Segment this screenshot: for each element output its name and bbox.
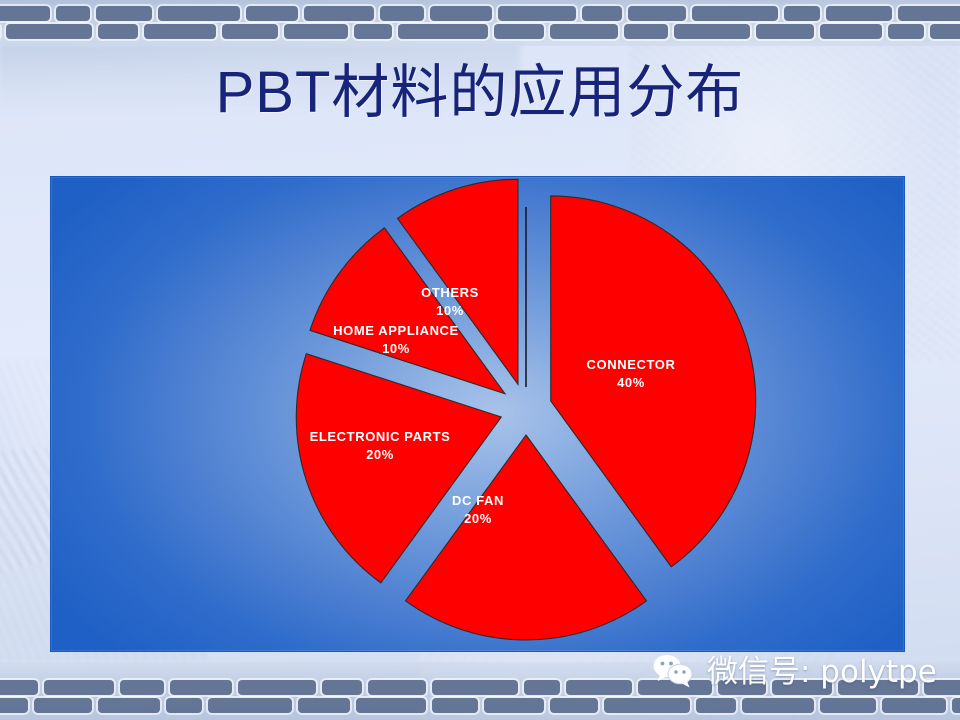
brick bbox=[430, 6, 492, 21]
brick bbox=[550, 698, 598, 713]
brick bbox=[170, 680, 232, 695]
brick bbox=[238, 680, 316, 695]
brick bbox=[820, 698, 876, 713]
brick bbox=[398, 24, 488, 39]
brick bbox=[696, 698, 736, 713]
chart-panel: CONNECTOR40%DC FAN20%ELECTRONIC PARTS20%… bbox=[50, 176, 905, 652]
pie-slice-label: CONNECTOR bbox=[587, 357, 676, 372]
brick bbox=[158, 6, 240, 21]
brick bbox=[432, 680, 518, 695]
brick-border-top-bg bbox=[0, 0, 960, 46]
brick bbox=[498, 6, 576, 21]
brick bbox=[98, 698, 160, 713]
slide-title-cjk: 材料的应用分布 bbox=[331, 58, 744, 126]
brick bbox=[624, 24, 668, 39]
brick-row-top-2 bbox=[0, 24, 960, 39]
pie-slice-value: 20% bbox=[366, 447, 394, 462]
pie-slice-label: HOME APPLIANCE bbox=[333, 323, 459, 338]
pie-slice-value: 20% bbox=[464, 511, 492, 526]
brick bbox=[298, 698, 350, 713]
slide-title: PBT材料的应用分布 bbox=[0, 62, 960, 124]
brick bbox=[222, 24, 278, 39]
brick bbox=[826, 6, 892, 21]
brick bbox=[56, 6, 90, 21]
brick bbox=[6, 24, 92, 39]
brick bbox=[756, 24, 814, 39]
presentation-slide: PBT材料的应用分布 CONNECTOR40%DC FAN20%ELECTRON… bbox=[0, 0, 960, 720]
brick bbox=[144, 24, 216, 39]
brick-row-bottom-2 bbox=[0, 698, 960, 713]
brick bbox=[304, 6, 374, 21]
brick bbox=[772, 680, 832, 695]
brick bbox=[638, 680, 712, 695]
pie-chart: CONNECTOR40%DC FAN20%ELECTRONIC PARTS20%… bbox=[51, 177, 906, 653]
brick bbox=[838, 680, 918, 695]
pie-slice-value: 10% bbox=[436, 303, 464, 318]
pie-slice-label: OTHERS bbox=[421, 285, 479, 300]
brick bbox=[952, 698, 960, 713]
brick bbox=[166, 698, 202, 713]
brick bbox=[924, 680, 960, 695]
brick-border-top bbox=[0, 0, 960, 46]
brick bbox=[44, 680, 114, 695]
brick bbox=[322, 680, 362, 695]
brick bbox=[524, 680, 560, 695]
brick-row-bottom-1 bbox=[0, 680, 960, 695]
brick bbox=[820, 24, 882, 39]
brick bbox=[882, 698, 946, 713]
brick bbox=[784, 6, 820, 21]
brick bbox=[208, 698, 292, 713]
brick bbox=[0, 6, 50, 21]
brick bbox=[284, 24, 348, 39]
brick bbox=[888, 24, 924, 39]
brick-border-bottom-bg bbox=[0, 662, 960, 720]
brick bbox=[494, 24, 544, 39]
brick bbox=[628, 6, 686, 21]
slide-title-latin: PBT bbox=[216, 60, 332, 125]
brick bbox=[356, 698, 426, 713]
brick bbox=[674, 24, 750, 39]
pie-slice-label: DC FAN bbox=[452, 493, 504, 508]
brick-row-top-1 bbox=[0, 6, 960, 21]
brick bbox=[98, 24, 138, 39]
wechat-watermark: 微信号: polytpe bbox=[652, 652, 937, 692]
brick bbox=[566, 680, 632, 695]
brick bbox=[604, 698, 690, 713]
brick bbox=[354, 24, 392, 39]
brick bbox=[432, 698, 478, 713]
brick bbox=[484, 698, 544, 713]
wechat-logo-icon bbox=[652, 652, 698, 692]
brick bbox=[368, 680, 426, 695]
brick bbox=[742, 698, 814, 713]
brick bbox=[0, 698, 28, 713]
brick bbox=[34, 698, 92, 713]
brick bbox=[550, 24, 618, 39]
brick bbox=[930, 24, 960, 39]
brick bbox=[718, 680, 766, 695]
brick bbox=[246, 6, 298, 21]
wechat-watermark-text: 微信号: polytpe bbox=[707, 657, 937, 688]
pie-slice-value: 40% bbox=[617, 375, 645, 390]
brick bbox=[0, 680, 38, 695]
brick bbox=[120, 680, 164, 695]
brick bbox=[692, 6, 778, 21]
brick bbox=[898, 6, 960, 21]
pie-slice-label: ELECTRONIC PARTS bbox=[310, 429, 451, 444]
brick-border-bottom bbox=[0, 662, 960, 720]
brick bbox=[380, 6, 424, 21]
pie-slice-value: 10% bbox=[382, 341, 410, 356]
brick bbox=[96, 6, 152, 21]
brick bbox=[582, 6, 622, 21]
